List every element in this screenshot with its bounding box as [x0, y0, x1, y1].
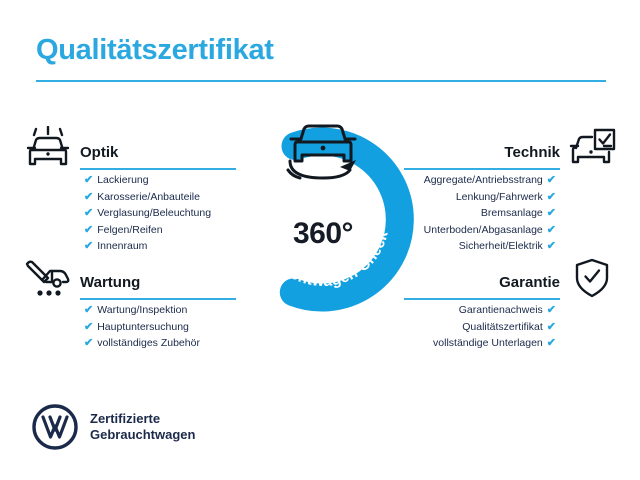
section-divider	[404, 168, 560, 170]
section-title: Garantie	[499, 274, 560, 291]
list-item-label: Felgen/Reifen	[97, 224, 162, 236]
check-icon: ✔	[84, 240, 93, 252]
section-divider	[80, 168, 236, 170]
list-item-label: Lenkung/Fahrwerk	[456, 191, 543, 203]
section-divider	[404, 298, 560, 300]
check-icon: ✔	[84, 321, 93, 333]
wrench-car-icon	[22, 256, 74, 300]
check-icon: ✔	[84, 304, 93, 316]
page-title: Qualitätszertifikat	[36, 34, 274, 67]
footer-line-1: Zertifizierte	[90, 411, 195, 427]
section-divider	[80, 298, 236, 300]
list-item-label: Hauptuntersuchung	[97, 321, 189, 333]
vw-roundel-logo	[32, 404, 78, 450]
section-optik: Optik ✔Lackierung ✔Karosserie/Anbauteile…	[22, 126, 262, 255]
check-icon: ✔	[84, 337, 93, 349]
footer-brand-text: Zertifizierte Gebrauchtwagen	[90, 411, 195, 443]
check-icon: ✔	[84, 207, 93, 219]
list-item-label: Qualitätszertifikat	[462, 321, 543, 333]
check-icon: ✔	[547, 304, 556, 316]
list-item-label: Aggregate/Antriebsstrang	[424, 174, 543, 186]
list-item: Qualitätszertifikat✔	[378, 319, 556, 336]
list-item: vollständige Unterlagen✔	[378, 335, 556, 352]
list-item-label: Garantienachweis	[459, 304, 543, 316]
section-header: Wartung	[22, 256, 262, 302]
check-icon: ✔	[547, 321, 556, 333]
list-item-label: Lackierung	[97, 174, 148, 186]
check-icon: ✔	[547, 224, 556, 236]
list-item-label: vollständiges Zubehör	[97, 337, 200, 349]
badge-value: 360°	[228, 217, 418, 251]
section-title: Wartung	[80, 274, 140, 291]
check-icon: ✔	[547, 174, 556, 186]
car-shine-icon	[22, 126, 74, 170]
list-item-label: Unterboden/Abgasanlage	[424, 224, 543, 236]
footer-line-2: Gebrauchtwagen	[90, 427, 195, 443]
checklist-wartung: ✔Wartung/Inspektion ✔Hauptuntersuchung ✔…	[22, 302, 262, 352]
check-icon: ✔	[84, 191, 93, 203]
check-icon: ✔	[84, 174, 93, 186]
list-item-label: Verglasung/Beleuchtung	[97, 207, 211, 219]
list-item-label: Bremsanlage	[481, 207, 543, 219]
list-item-label: Wartung/Inspektion	[97, 304, 187, 316]
check-icon: ✔	[547, 337, 556, 349]
list-item-label: Sicherheit/Elektrik	[459, 240, 543, 252]
list-item-label: Karosserie/Anbauteile	[97, 191, 200, 203]
section-header: Optik	[22, 126, 262, 172]
section-title: Optik	[80, 144, 118, 161]
section-wartung: Wartung ✔Wartung/Inspektion ✔Hauptunters…	[22, 256, 262, 352]
check-icon: ✔	[547, 207, 556, 219]
list-item: ✔vollständiges Zubehör	[84, 335, 262, 352]
list-item: ✔Hauptuntersuchung	[84, 319, 262, 336]
certificate-page: Qualitätszertifikat	[0, 0, 640, 480]
footer-brand-lockup: Zertifizierte Gebrauchtwagen	[32, 404, 195, 450]
badge-360-check: Gebrauchtwagen-Check 360°	[228, 112, 418, 312]
title-divider	[36, 80, 606, 82]
shield-check-icon	[566, 256, 618, 300]
list-item-label: vollständige Unterlagen	[433, 337, 543, 349]
car-checkbox-icon	[566, 126, 618, 170]
list-item-label: Innenraum	[97, 240, 147, 252]
check-icon: ✔	[547, 191, 556, 203]
check-icon: ✔	[547, 240, 556, 252]
section-title: Technik	[504, 144, 560, 161]
check-icon: ✔	[84, 224, 93, 236]
checklist-optik: ✔Lackierung ✔Karosserie/Anbauteile ✔Verg…	[22, 172, 262, 255]
